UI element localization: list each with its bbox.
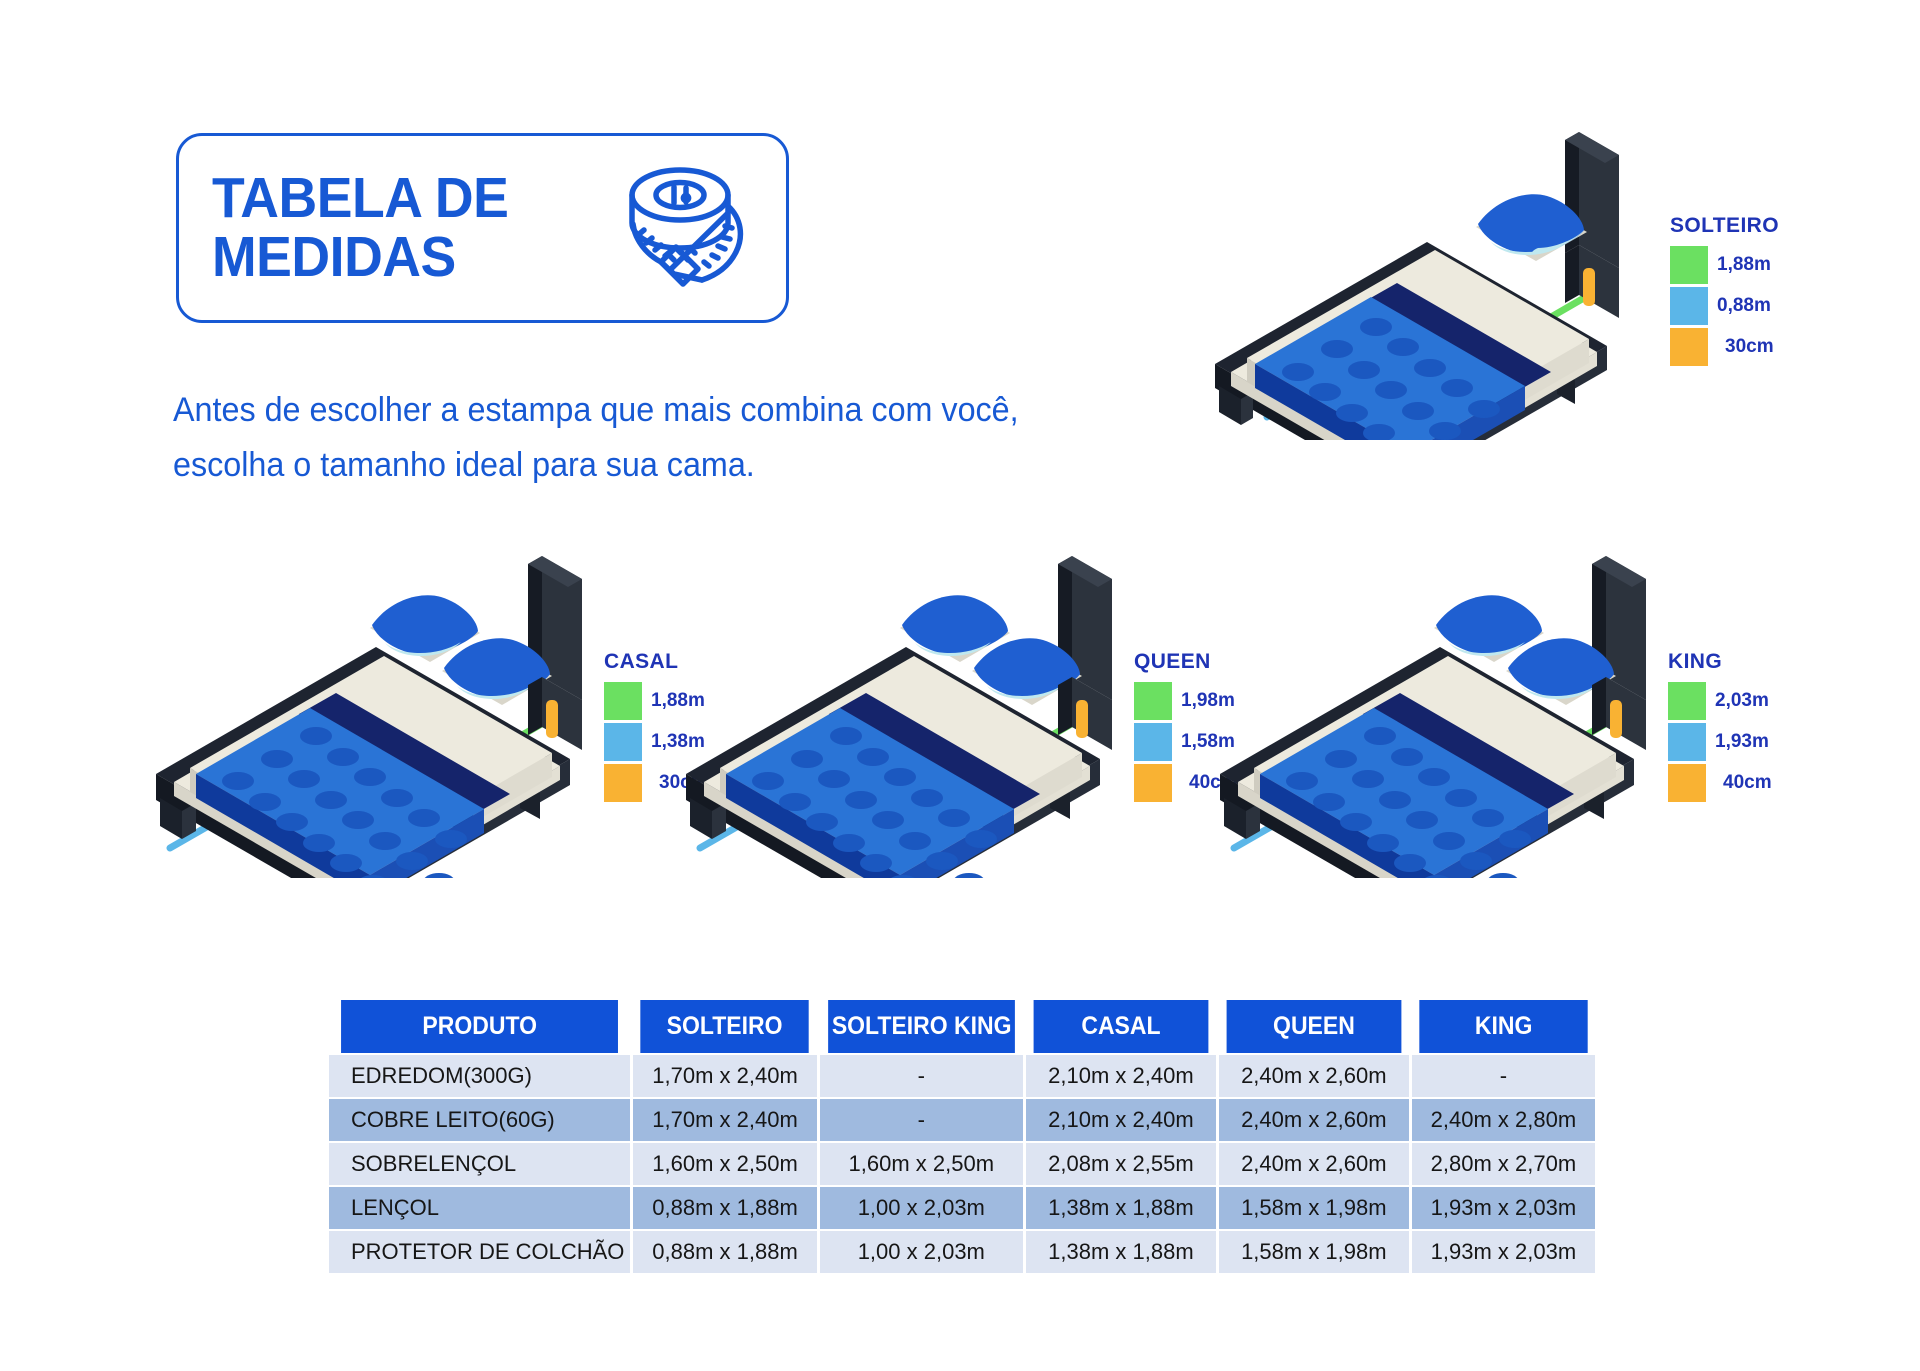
cell-produto: PROTETOR DE COLCHÃO — [329, 1231, 630, 1273]
swatch-height-orange — [604, 764, 642, 802]
legend-solteiro: SOLTEIRO 1,88m 0,88m 30cm — [1670, 214, 1779, 367]
bed-svg-king — [1212, 548, 1682, 878]
measuring-tape-icon — [614, 156, 764, 306]
legend-row: 40cm — [1668, 762, 1772, 803]
height-marker-orange — [546, 700, 558, 738]
bed-svg-casal — [148, 548, 618, 878]
cell-produto: LENÇOL — [329, 1187, 630, 1229]
cell-solteiro: 1,70m x 2,40m — [633, 1055, 816, 1097]
table-row: COBRE LEITO(60G) 1,70m x 2,40m - 2,10m x… — [329, 1099, 1595, 1141]
legend-row: 2,03m — [1668, 680, 1772, 721]
cell-queen: 2,40m x 2,60m — [1219, 1055, 1409, 1097]
table-header-row: PRODUTO SOLTEIRO SOLTEIRO KING CASAL QUE… — [329, 1000, 1595, 1053]
cell-king: 2,40m x 2,80m — [1412, 1099, 1595, 1141]
legend-title-king: KING — [1668, 650, 1772, 674]
height-marker-orange — [1610, 700, 1622, 738]
cell-queen: 2,40m x 2,60m — [1219, 1099, 1409, 1141]
cell-solteiro-king: - — [820, 1099, 1023, 1141]
bed-illustration-queen — [678, 548, 1148, 878]
swatch-length-green — [1668, 682, 1706, 720]
cell-casal: 1,38m x 1,88m — [1026, 1187, 1216, 1229]
legend-value-height: 40cm — [1723, 772, 1772, 794]
legend-row: 0,88m — [1670, 285, 1779, 326]
cell-casal: 2,10m x 2,40m — [1026, 1055, 1216, 1097]
swatch-width-blue — [604, 723, 642, 761]
cell-casal: 1,38m x 1,88m — [1026, 1231, 1216, 1273]
swatch-length-green — [1670, 246, 1708, 284]
table-row: PROTETOR DE COLCHÃO 0,88m x 1,88m 1,00 x… — [329, 1231, 1595, 1273]
cell-queen: 1,58m x 1,98m — [1219, 1231, 1409, 1273]
swatch-width-blue — [1670, 287, 1708, 325]
cell-queen: 1,58m x 1,98m — [1219, 1187, 1409, 1229]
col-header-king: KING — [1419, 1000, 1588, 1053]
cell-solteiro: 1,70m x 2,40m — [633, 1099, 816, 1141]
legend-value-length: 2,03m — [1715, 690, 1769, 712]
height-marker-orange — [1076, 700, 1088, 738]
subtitle-text: Antes de escolher a estampa que mais com… — [173, 383, 1028, 493]
legend-row: 30cm — [1670, 326, 1779, 367]
height-marker-orange — [1583, 268, 1595, 306]
legend-value-height: 30cm — [1725, 336, 1774, 358]
table-row: SOBRELENÇOL 1,60m x 2,50m 1,60m x 2,50m … — [329, 1143, 1595, 1185]
legend-title-solteiro: SOLTEIRO — [1670, 214, 1779, 238]
legend-king: KING 2,03m 1,93m 40cm — [1668, 650, 1772, 803]
col-header-casal: CASAL — [1034, 1000, 1209, 1053]
cell-solteiro: 0,88m x 1,88m — [633, 1187, 816, 1229]
bed-svg-queen — [678, 548, 1148, 878]
swatch-height-orange — [1668, 764, 1706, 802]
swatch-height-orange — [1670, 328, 1708, 366]
swatch-width-blue — [1134, 723, 1172, 761]
cell-produto: COBRE LEITO(60G) — [329, 1099, 630, 1141]
cell-produto: EDREDOM(300G) — [329, 1055, 630, 1097]
bed-svg-solteiro — [1195, 120, 1655, 440]
table-row: EDREDOM(300G) 1,70m x 2,40m - 2,10m x 2,… — [329, 1055, 1595, 1097]
bed-illustration-solteiro — [1195, 120, 1655, 440]
cell-king: 2,80m x 2,70m — [1412, 1143, 1595, 1185]
legend-row: 1,93m — [1668, 721, 1772, 762]
col-header-solteiro: SOLTEIRO — [641, 1000, 810, 1053]
swatch-length-green — [1134, 682, 1172, 720]
cell-solteiro-king: - — [820, 1055, 1023, 1097]
col-header-produto: PRODUTO — [341, 1000, 618, 1053]
legend-row: 1,88m — [1670, 244, 1779, 285]
swatch-height-orange — [1134, 764, 1172, 802]
cell-solteiro-king: 1,00 x 2,03m — [820, 1187, 1023, 1229]
col-header-solteiro-king: SOLTEIRO KING — [828, 1000, 1015, 1053]
cell-solteiro: 0,88m x 1,88m — [633, 1231, 816, 1273]
legend-value-length: 1,88m — [1717, 254, 1771, 276]
measurements-table: PRODUTO SOLTEIRO SOLTEIRO KING CASAL QUE… — [326, 998, 1598, 1275]
legend-value-width: 0,88m — [1717, 295, 1771, 317]
bed-illustration-king — [1212, 548, 1682, 878]
cell-solteiro: 1,60m x 2,50m — [633, 1143, 816, 1185]
page-title: TABELA DE MEDIDAS — [212, 169, 508, 288]
cell-solteiro-king: 1,60m x 2,50m — [820, 1143, 1023, 1185]
cell-queen: 2,40m x 2,60m — [1219, 1143, 1409, 1185]
title-box: TABELA DE MEDIDAS — [176, 133, 789, 323]
cell-produto: SOBRELENÇOL — [329, 1143, 630, 1185]
swatch-length-green — [604, 682, 642, 720]
cell-king: 1,93m x 2,03m — [1412, 1187, 1595, 1229]
col-header-queen: QUEEN — [1226, 1000, 1401, 1053]
cell-king: 1,93m x 2,03m — [1412, 1231, 1595, 1273]
table-row: LENÇOL 0,88m x 1,88m 1,00 x 2,03m 1,38m … — [329, 1187, 1595, 1229]
legend-value-width: 1,93m — [1715, 731, 1769, 753]
infographic-page: TABELA DE MEDIDAS Antes de escolher a es… — [0, 0, 1920, 1371]
cell-solteiro-king: 1,00 x 2,03m — [820, 1231, 1023, 1273]
cell-casal: 2,08m x 2,55m — [1026, 1143, 1216, 1185]
swatch-width-blue — [1668, 723, 1706, 761]
bed-illustration-casal — [148, 548, 618, 878]
cell-casal: 2,10m x 2,40m — [1026, 1099, 1216, 1141]
cell-king: - — [1412, 1055, 1595, 1097]
